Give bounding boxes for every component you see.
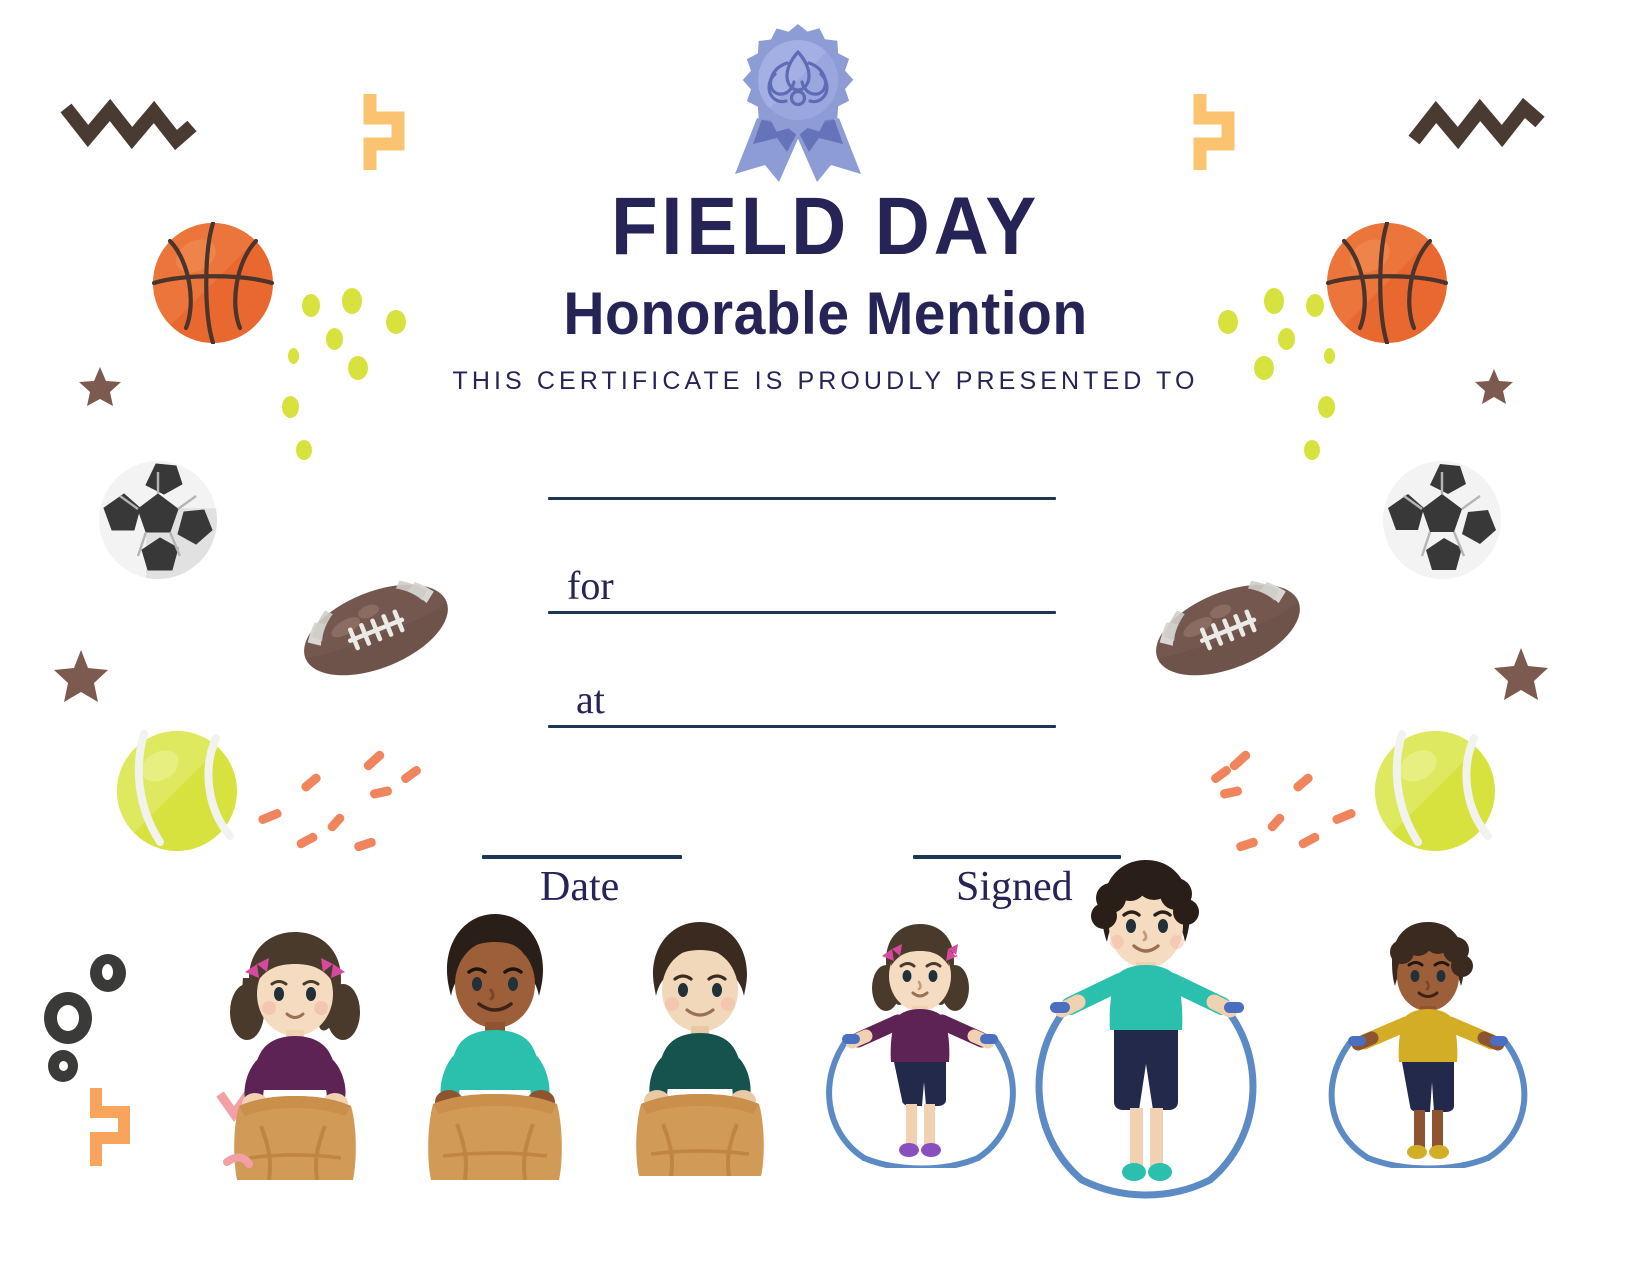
award-for-line[interactable] [548,611,1056,614]
basketball-right [1326,222,1448,349]
confetti-dots-left [282,288,412,478]
confetti-dashes-left [258,756,408,866]
star-brown-lower-right [1492,644,1550,702]
kid-sack-race-boy-darkteal [615,908,785,1176]
kid-jump-rope-girl-purple [808,918,1033,1168]
zigzag-yellow-top-right [1186,88,1246,178]
kid-sack-race-boy-teal [405,898,585,1180]
football-left [294,566,458,699]
event-location-line[interactable] [548,725,1056,728]
basketball-left [152,222,274,349]
star-brown-lower-left [52,646,110,704]
zigzag-yellow-top-left [356,88,416,178]
star-brown-upper-right [1474,366,1514,406]
football-right [1146,566,1310,699]
rings-bottom-left [38,950,148,1130]
zigzag-dark-top-left [60,96,200,156]
zigzag-dark-top-right [1408,96,1548,156]
star-brown-upper-left [78,364,122,408]
presented-to-text: THIS CERTIFICATE IS PROUDLY PRESENTED TO [0,367,1651,396]
kid-jump-rope-boy-teal [1018,854,1273,1199]
for-label: for [567,566,614,606]
confetti-dots-right [1206,288,1336,478]
award-rosette-lotus-icon [713,22,883,182]
recipient-name-line[interactable] [548,497,1056,500]
at-label: at [576,680,605,720]
soccer-ball-right [1382,460,1502,585]
soccer-ball-left [98,460,218,585]
kid-sack-race-girl-purple [205,920,385,1180]
kid-jump-rope-boy-yellow [1310,918,1545,1168]
confetti-dashes-right [1210,756,1360,866]
certificate-canvas: FIELD DAY Honorable Mention THIS CERTIFI… [0,0,1651,1276]
tennis-ball-left [116,730,238,857]
tennis-ball-right [1374,730,1496,857]
date-line[interactable] [482,855,682,859]
